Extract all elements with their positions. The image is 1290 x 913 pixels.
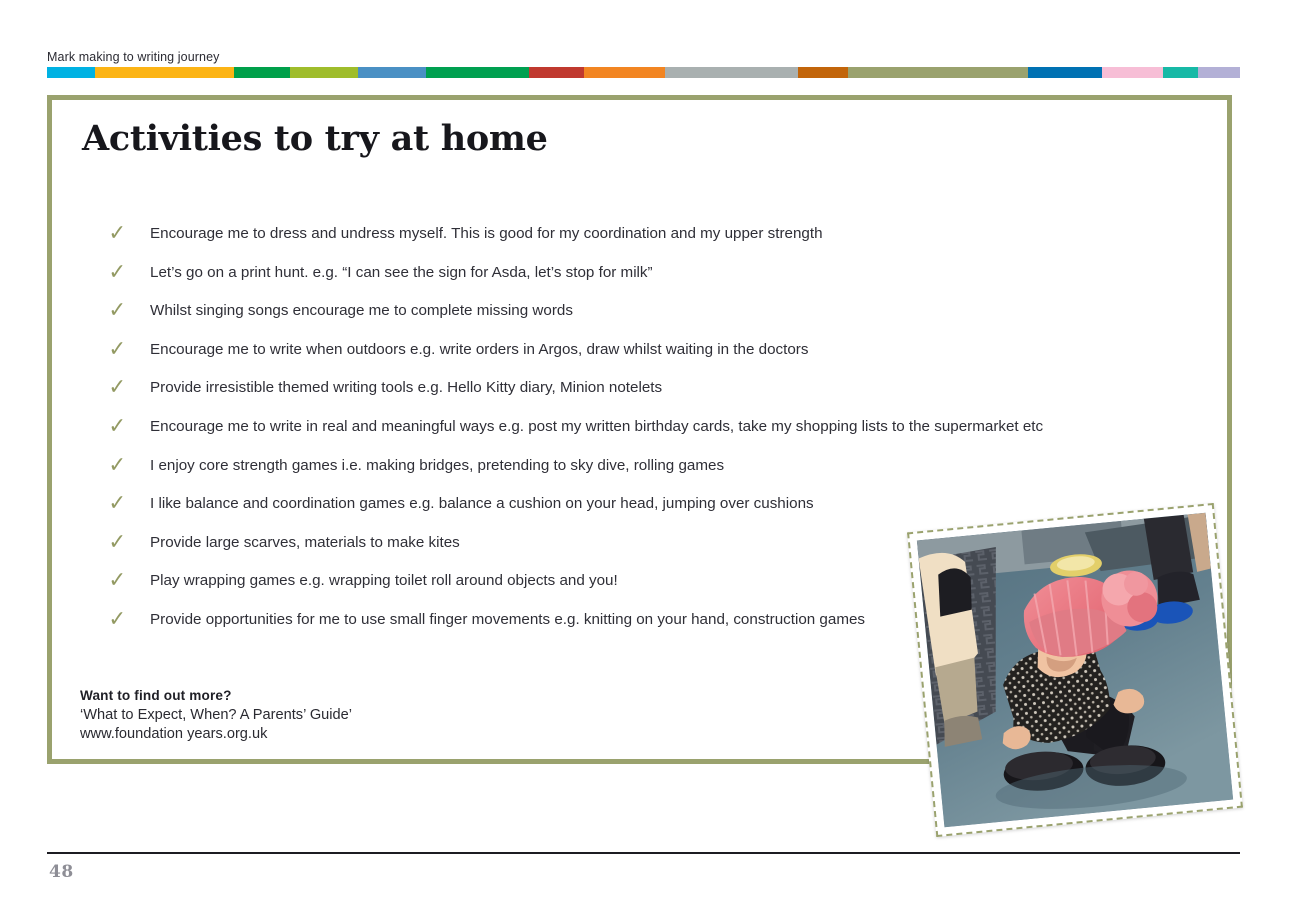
page-title: Activities to try at home — [82, 118, 548, 159]
check-icon: ✓ — [108, 331, 126, 370]
activity-text: Encourage me to dress and undress myself… — [150, 225, 823, 242]
check-icon: ✓ — [108, 562, 126, 601]
activity-text: I enjoy core strength games i.e. making … — [150, 457, 724, 474]
page-number: 48 — [49, 862, 74, 882]
check-icon: ✓ — [108, 447, 126, 486]
find-out-more-publication: ‘What to Expect, When? A Parents’ Guide’ — [80, 706, 352, 726]
color-bar-segment-11 — [848, 67, 1028, 78]
color-bar-segment-13 — [1102, 67, 1163, 78]
activity-text: Let’s go on a print hunt. e.g. “I can se… — [150, 264, 653, 281]
check-icon: ✓ — [108, 524, 126, 563]
activity-list-item: ✓Encourage me to write when outdoors e.g… — [80, 331, 1200, 370]
decorative-color-bar — [47, 67, 1240, 78]
running-header-title: Mark making to writing journey — [47, 50, 220, 64]
photo-child-on-floor — [917, 513, 1233, 827]
color-bar-segment-1 — [47, 67, 95, 78]
footer-rule — [47, 852, 1240, 854]
find-out-more-block: Want to find out more? ‘What to Expect, … — [80, 686, 352, 745]
activity-list-item: ✓I enjoy core strength games i.e. making… — [80, 447, 1200, 486]
color-bar-segment-12 — [1028, 67, 1102, 78]
photo-frame — [907, 503, 1243, 837]
activity-text: Encourage me to write in real and meanin… — [150, 418, 1043, 435]
find-out-more-website: www.foundation years.org.uk — [80, 725, 352, 745]
activity-list-item: ✓Encourage me to write in real and meani… — [80, 408, 1200, 447]
activity-list-item: ✓I like balance and coordination games e… — [80, 485, 1200, 524]
color-bar-segment-5 — [358, 67, 426, 78]
color-bar-segment-2 — [95, 67, 234, 78]
activity-text: Whilst singing songs encourage me to com… — [150, 302, 573, 319]
check-icon: ✓ — [108, 292, 126, 331]
check-icon: ✓ — [108, 254, 126, 293]
color-bar-segment-3 — [234, 67, 290, 78]
activity-text: Play wrapping games e.g. wrapping toilet… — [150, 572, 618, 589]
activity-text: Provide large scarves, materials to make… — [150, 534, 460, 551]
activity-list-item: ✓Provide irresistible themed writing too… — [80, 369, 1200, 408]
color-bar-segment-10 — [798, 67, 847, 78]
find-out-more-heading: Want to find out more? — [80, 686, 352, 706]
activity-text: Encourage me to write when outdoors e.g.… — [150, 341, 808, 358]
color-bar-segment-9 — [665, 67, 799, 78]
color-bar-segment-8 — [584, 67, 664, 78]
color-bar-segment-7 — [529, 67, 585, 78]
color-bar-segment-4 — [290, 67, 358, 78]
check-icon: ✓ — [108, 369, 126, 408]
check-icon: ✓ — [108, 408, 126, 447]
activity-list-item: ✓Whilst singing songs encourage me to co… — [80, 292, 1200, 331]
color-bar-segment-6 — [426, 67, 529, 78]
color-bar-segment-14 — [1163, 67, 1198, 78]
activity-list-item: ✓Encourage me to dress and undress mysel… — [80, 215, 1200, 254]
check-icon: ✓ — [108, 215, 126, 254]
color-bar-segment-15 — [1198, 67, 1240, 78]
activity-text: I like balance and coordination games e.… — [150, 495, 814, 512]
activity-list-item: ✓Let’s go on a print hunt. e.g. “I can s… — [80, 254, 1200, 293]
check-icon: ✓ — [108, 601, 126, 640]
activity-text: Provide opportunities for me to use smal… — [150, 611, 865, 628]
activity-text: Provide irresistible themed writing tool… — [150, 379, 662, 396]
check-icon: ✓ — [108, 485, 126, 524]
